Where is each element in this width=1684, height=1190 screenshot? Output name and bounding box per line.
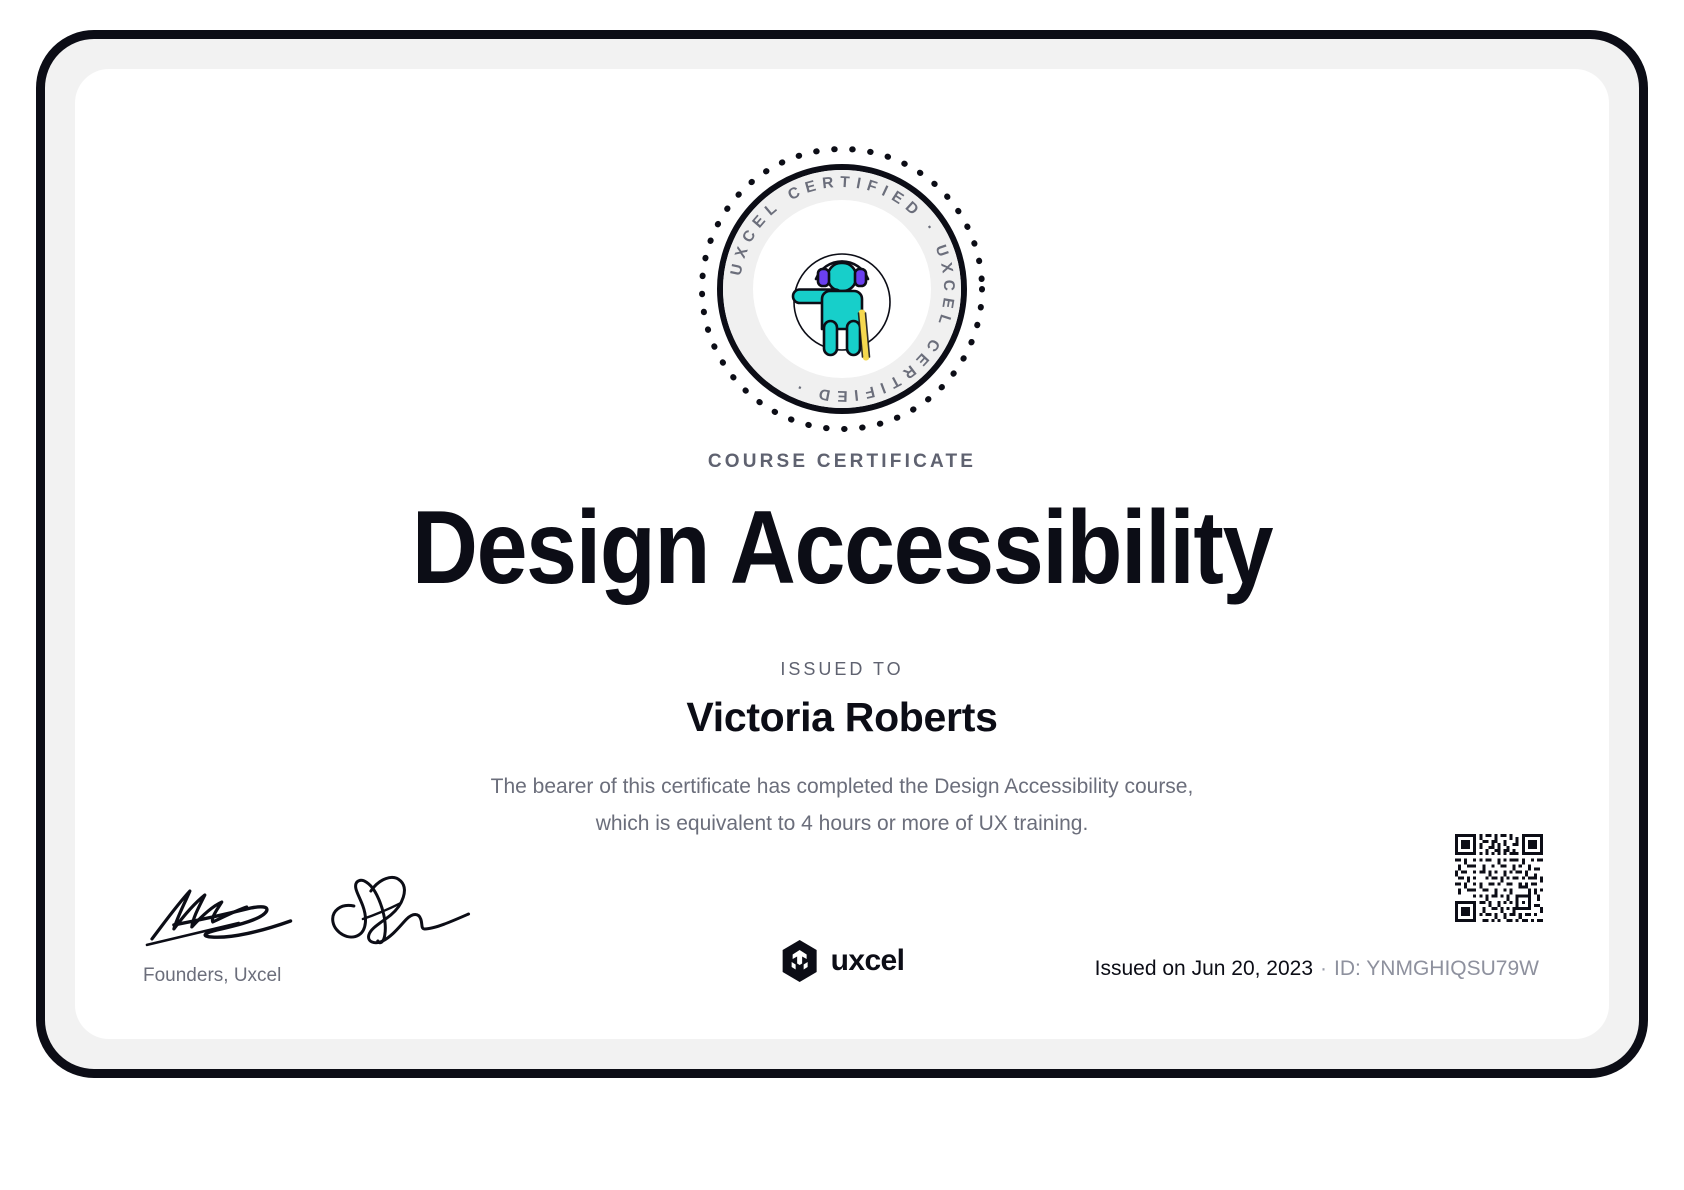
uxcel-hexagon-icon [780,939,820,983]
recipient-name: Victoria Roberts [75,694,1609,741]
course-title: Design Accessibility [167,489,1517,609]
uxcel-certified-seal-icon: UXCEL CERTIFIED · UXCEL CERTIFIED · [692,139,992,439]
signature-block: Founders, Uxcel [143,873,473,987]
founder-signature-2-icon [323,873,473,951]
certificate-card: UXCEL CERTIFIED · UXCEL CERTIFIED · [75,69,1609,1039]
certificate-description: The bearer of this certificate has compl… [432,769,1252,843]
founder-signature-1-icon [143,873,317,951]
description-line-2: which is equivalent to 4 hours or more o… [432,806,1252,843]
signature-row [143,873,473,951]
issuance-meta: Issued on Jun 20, 2023·ID: YNMGHIQSU79W [1095,957,1539,981]
uxcel-wordmark: uxcel [831,944,905,978]
signature-caption: Founders, Uxcel [143,965,473,987]
uxcel-brand-logo: uxcel [780,939,905,983]
certificate-id: ID: YNMGHIQSU79W [1334,957,1539,980]
verification-qr-code[interactable] [1455,834,1543,927]
certificate-kicker: COURSE CERTIFICATE [75,451,1609,473]
issued-on-date: Issued on Jun 20, 2023 [1095,957,1313,980]
seal-container: UXCEL CERTIFIED · UXCEL CERTIFIED · [75,139,1609,439]
issued-to-label: ISSUED TO [75,659,1609,680]
certificate-frame: UXCEL CERTIFIED · UXCEL CERTIFIED · [36,30,1648,1078]
description-line-1: The bearer of this certificate has compl… [432,769,1252,806]
meta-separator: · [1320,957,1327,980]
